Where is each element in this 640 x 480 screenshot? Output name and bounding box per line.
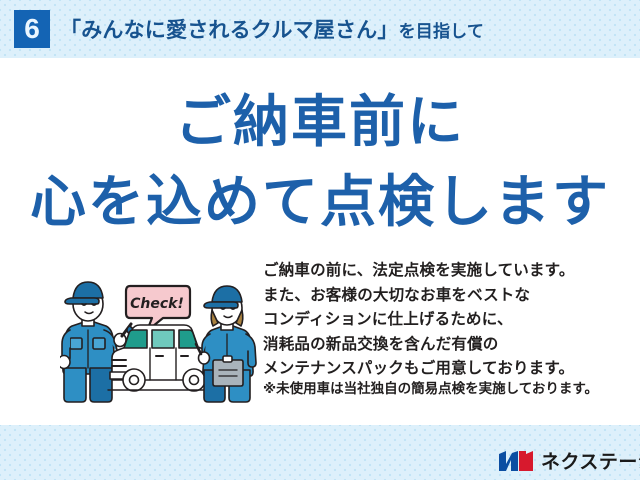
nextage-n-mark-icon	[498, 450, 534, 472]
check-bubble-label: Check!	[130, 296, 184, 312]
section-number-badge: 6	[14, 10, 50, 48]
body-line-4: 消耗品の新品交換を含んだ有償の	[263, 332, 633, 357]
body-copy: ご納車の前に、法定点検を実施しています。 また、お客様の大切なお車をベストな コ…	[263, 258, 633, 381]
body-line-2: また、お客様の大切なお車をベストな	[263, 283, 633, 308]
promo-banner: 6 「みんなに愛されるクルマ屋さん」を目指して ご納車前に 心を込めて点検します	[0, 0, 640, 480]
header-title: 「みんなに愛されるクルマ屋さん」を目指して	[60, 14, 484, 44]
body-line-3: コンディションに仕上げるために、	[263, 307, 633, 332]
header-title-tail: を目指して	[399, 22, 485, 41]
headline-line-1: ご納車前に	[0, 92, 640, 154]
section-number-label: 6	[24, 15, 40, 43]
body-line-1: ご納車の前に、法定点検を実施しています。	[263, 258, 633, 283]
body-note: ※未使用車は当社独自の簡易点検を実施しております。	[263, 380, 635, 399]
brand-logo: ネクステージ	[498, 447, 640, 474]
body-line-5: メンテナンスパックもご用意しております。	[263, 356, 633, 381]
right-mechanic-figure	[196, 286, 256, 402]
header-title-quoted: 「みんなに愛されるクルマ屋さん」	[60, 19, 399, 42]
brand-wordmark: ネクステージ	[541, 447, 640, 474]
headline-line-2: 心を込めて点検します	[0, 172, 640, 234]
mechanics-illustration: Check!	[60, 268, 265, 403]
